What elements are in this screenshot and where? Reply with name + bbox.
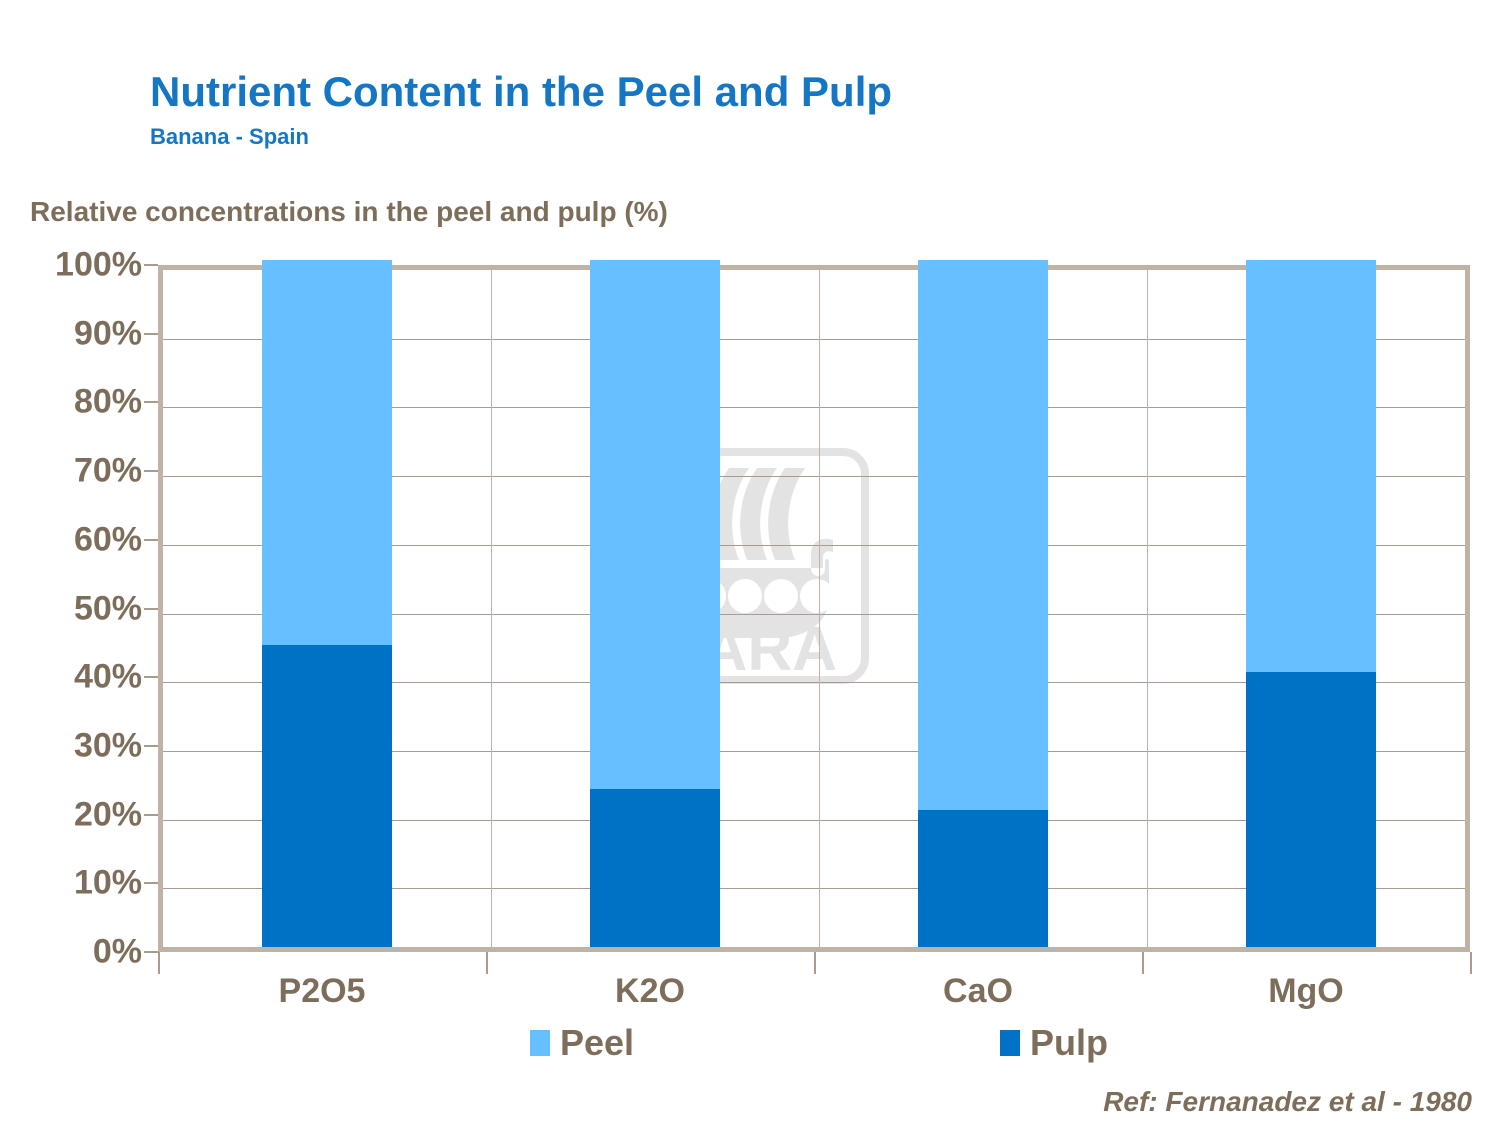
bar-segment-peel[interactable] (918, 260, 1048, 810)
title-block: Nutrient Content in the Peel and Pulp Ba… (150, 68, 892, 152)
y-axis-tick-mark (144, 608, 158, 610)
legend-label-peel: Peel (560, 1022, 634, 1064)
x-axis-category-label-p2o5: P2O5 (202, 972, 442, 1011)
x-axis-tick-mark (486, 952, 488, 974)
bar-segment-peel[interactable] (262, 260, 392, 645)
chart-reference-note: Ref: Fernanadez et al - 1980 (1103, 1086, 1472, 1118)
page-subtitle: Banana - Spain (150, 122, 892, 152)
y-axis-tick-label: 100% (2, 246, 142, 285)
y-axis-tick-label: 80% (2, 383, 142, 422)
y-axis-tick-label: 20% (2, 795, 142, 834)
y-axis-tick-label: 90% (2, 314, 142, 353)
y-axis-tick-mark (144, 745, 158, 747)
legend-swatch-pulp (1000, 1030, 1020, 1056)
bar-segment-pulp[interactable] (1246, 672, 1376, 947)
bar-group-k2o[interactable] (590, 260, 720, 947)
chart-plot-inner: YARA (163, 270, 1465, 947)
y-axis-tick-mark (144, 333, 158, 335)
y-axis-tick-mark (144, 264, 158, 266)
y-axis-tick-mark (144, 401, 158, 403)
bar-segment-peel[interactable] (590, 260, 720, 789)
bar-group-mgo[interactable] (1246, 260, 1376, 947)
category-separator (1147, 270, 1148, 947)
y-axis-tick-mark (144, 539, 158, 541)
y-axis-tick-label: 70% (2, 452, 142, 491)
y-axis-tick-label: 40% (2, 658, 142, 697)
bar-segment-pulp[interactable] (590, 789, 720, 947)
legend-swatch-peel (530, 1030, 550, 1056)
x-axis-tick-mark (1142, 952, 1144, 974)
y-axis-tick-label: 0% (2, 933, 142, 972)
bar-segment-pulp[interactable] (262, 645, 392, 947)
y-axis-tick-mark (144, 882, 158, 884)
page-title: Nutrient Content in the Peel and Pulp (150, 68, 892, 116)
category-separator (491, 270, 492, 947)
legend-item-pulp[interactable]: Pulp (1000, 1022, 1108, 1064)
x-axis-category-label-k2o: K2O (530, 972, 770, 1011)
bar-group-p2o5[interactable] (262, 260, 392, 947)
x-axis-category-label-cao: CaO (858, 972, 1098, 1011)
chart-plot-area: YARA (158, 265, 1470, 952)
x-axis-tick-mark (814, 952, 816, 974)
bar-segment-pulp[interactable] (918, 810, 1048, 947)
chart-legend: PeelPulp (0, 1022, 1500, 1072)
y-axis-tick-mark (144, 814, 158, 816)
bar-segment-peel[interactable] (1246, 260, 1376, 672)
x-axis-category-label-mgo: MgO (1186, 972, 1426, 1011)
legend-item-peel[interactable]: Peel (530, 1022, 634, 1064)
x-axis-tick-mark (158, 952, 160, 974)
y-axis-tick-mark (144, 470, 158, 472)
y-axis-tick-label: 60% (2, 520, 142, 559)
y-axis-tick-mark (144, 676, 158, 678)
y-axis-tick-label: 30% (2, 726, 142, 765)
bar-group-cao[interactable] (918, 260, 1048, 947)
y-axis-tick-mark (144, 951, 158, 953)
chart-axis-caption: Relative concentrations in the peel and … (30, 196, 668, 228)
y-axis-tick-label: 50% (2, 589, 142, 628)
legend-label-pulp: Pulp (1030, 1022, 1108, 1064)
y-axis-tick-label: 10% (2, 864, 142, 903)
x-axis-tick-mark (1470, 952, 1472, 974)
category-separator (819, 270, 820, 947)
